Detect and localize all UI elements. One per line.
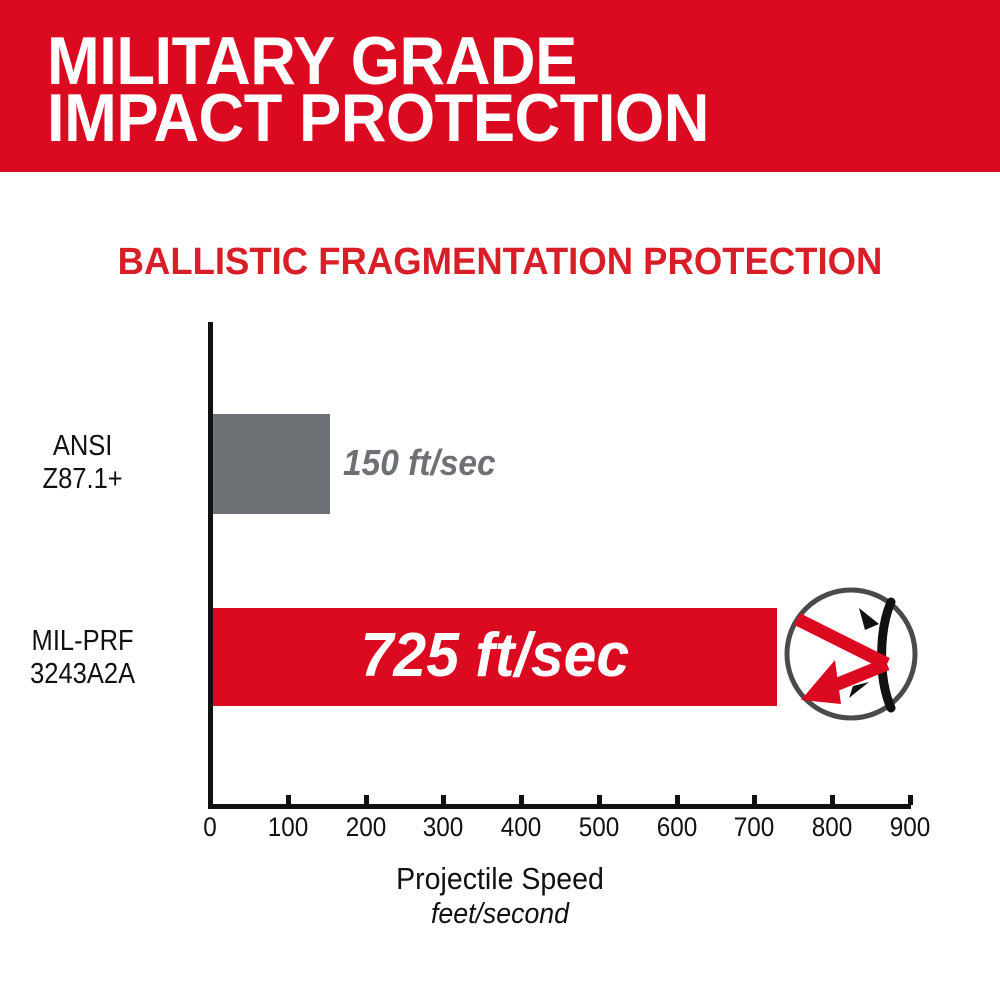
bar-chart: 0100200300400500600700800900 ANSI Z87.1+… — [0, 0, 1000, 1000]
x-tick-label-200: 200 — [334, 812, 397, 843]
x-tick-label-900: 900 — [879, 812, 942, 843]
x-tick-800 — [830, 795, 835, 805]
category-label-ansi: ANSI Z87.1+ — [0, 430, 197, 496]
x-tick-label-400: 400 — [490, 812, 553, 843]
x-axis-subtitle-units: feet/second — [40, 898, 960, 931]
category-label-ansi-line1: ANSI — [0, 430, 197, 463]
x-tick-200 — [364, 795, 369, 805]
x-tick-300 — [441, 795, 446, 805]
x-axis-line — [208, 804, 911, 809]
x-tick-0 — [208, 795, 213, 805]
y-axis-line — [208, 322, 213, 809]
x-tick-500 — [597, 795, 602, 805]
value-label-milprf: 725 ft/sec — [227, 615, 763, 697]
value-label-ansi: 150 ft/sec — [343, 442, 496, 484]
infographic-page: MILITARY GRADE IMPACT PROTECTION BALLIST… — [0, 0, 1000, 1000]
x-tick-700 — [752, 795, 757, 805]
x-tick-label-600: 600 — [645, 812, 708, 843]
x-tick-label-700: 700 — [723, 812, 786, 843]
x-tick-900 — [908, 795, 913, 805]
bar-ansi-z871 — [213, 414, 330, 514]
x-tick-label-300: 300 — [412, 812, 475, 843]
x-tick-label-800: 800 — [801, 812, 864, 843]
x-tick-600 — [675, 795, 680, 805]
category-label-milprf-line1: MIL-PRF — [0, 625, 197, 658]
x-tick-label-0: 0 — [179, 812, 242, 843]
x-tick-100 — [286, 795, 291, 805]
x-tick-label-500: 500 — [567, 812, 630, 843]
x-tick-label-100: 100 — [256, 812, 319, 843]
category-label-milprf-line2: 3243A2A — [0, 658, 197, 691]
category-label-milprf: MIL-PRF 3243A2A — [0, 625, 197, 691]
category-label-ansi-line2: Z87.1+ — [0, 463, 197, 496]
x-tick-400 — [519, 795, 524, 805]
x-axis-title: Projectile Speed — [40, 861, 960, 897]
ballistic-deflection-icon — [783, 586, 919, 722]
